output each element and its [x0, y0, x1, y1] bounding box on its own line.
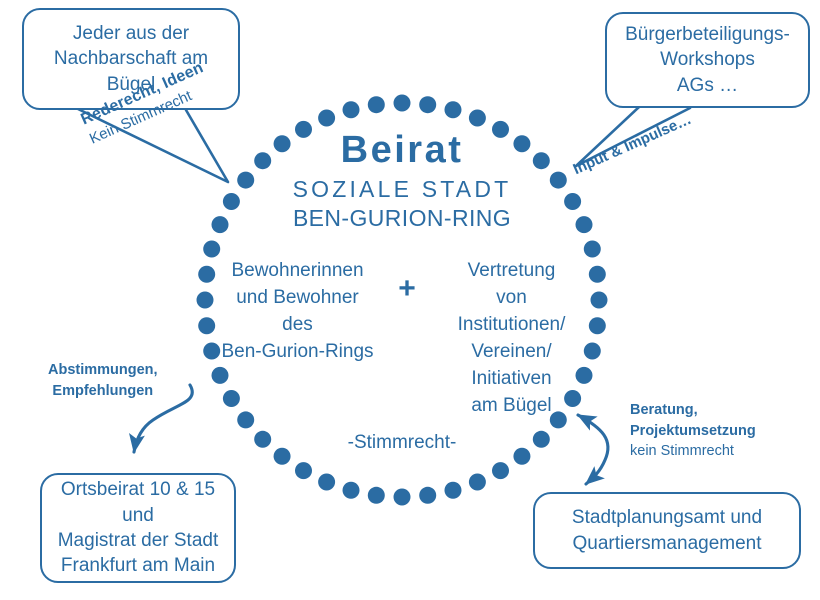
composition-residents: Bewohnerinnen und Bewohner des Ben-Gurio…: [210, 258, 385, 366]
label-beratung-line2: Projektumsetzung: [630, 421, 756, 442]
ring-dot: [584, 241, 601, 258]
ring-dot: [419, 96, 436, 113]
ring-dot: [318, 474, 335, 491]
ring-dot: [274, 448, 291, 465]
ring-dot: [394, 489, 411, 506]
ring-dot: [492, 462, 509, 479]
ring-dot: [343, 101, 360, 118]
box-stadtplanung[interactable]: Stadtplanungsamt und Quartiersmanagement: [533, 492, 801, 569]
bubble-workshops[interactable]: Bürgerbeteiligungs- Workshops AGs …: [605, 12, 810, 108]
ring-dot: [254, 431, 271, 448]
title-subtitle-location: BEN-GURION-RING: [222, 207, 582, 230]
title-subtitle-programme: SOZIALE STADT: [222, 178, 582, 201]
ring-dot: [469, 474, 486, 491]
label-beratung: Beratung, Projektumsetzung kein Stimmrec…: [630, 400, 756, 462]
label-beratung-line1: Beratung,: [630, 400, 756, 421]
label-beratung-line3: kein Stimmrecht: [630, 441, 756, 462]
page-title: Beirat: [222, 131, 582, 169]
ring-dot: [444, 482, 461, 499]
plus-icon: +: [385, 258, 429, 304]
box-stadtplanung-text: Stadtplanungsamt und Quartiersmanagement: [572, 505, 762, 556]
center-title-block: Beirat SOZIALE STADT BEN-GURION-RING: [222, 131, 582, 230]
box-ortsbeirat-text: Ortsbeirat 10 & 15 und Magistrat der Sta…: [58, 477, 219, 579]
ring-dot: [318, 110, 335, 127]
center-composition: Bewohnerinnen und Bewohner des Ben-Gurio…: [202, 258, 602, 420]
ring-dot: [533, 431, 550, 448]
label-abstimmungen: Abstimmungen, Empfehlungen: [48, 360, 158, 402]
ring-dot: [513, 448, 530, 465]
ring-dot: [394, 95, 411, 112]
arrow-beratung: [578, 415, 608, 484]
bubble-workshops-text: Bürgerbeteiligungs- Workshops AGs …: [625, 22, 790, 98]
composition-institutions: Vertretung von Institutionen/ Vereinen/ …: [429, 258, 594, 420]
diagram-canvas: Jeder aus der Nachbarschaft am Bügel Bür…: [0, 0, 820, 600]
ring-dot: [444, 101, 461, 118]
ring-dot: [368, 96, 385, 113]
ring-dot: [469, 110, 486, 127]
voting-rights-note: -Stimmrecht-: [348, 432, 457, 454]
ring-dot: [343, 482, 360, 499]
ring-dot: [368, 487, 385, 504]
ring-dot: [295, 462, 312, 479]
ring-dot: [203, 241, 220, 258]
box-ortsbeirat[interactable]: Ortsbeirat 10 & 15 und Magistrat der Sta…: [40, 473, 236, 583]
ring-dot: [419, 487, 436, 504]
